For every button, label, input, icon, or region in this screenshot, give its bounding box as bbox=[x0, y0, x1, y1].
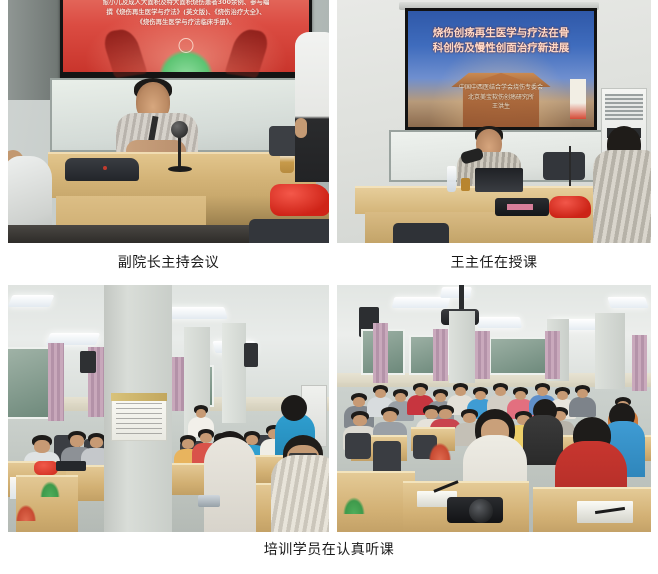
audience-person bbox=[413, 383, 428, 399]
curtain bbox=[48, 343, 64, 421]
slide-emblem-icon bbox=[159, 50, 213, 72]
slide-2-title-line-1: 烧伤创疡再生医学与疗法在骨 bbox=[414, 26, 588, 41]
pillar bbox=[449, 311, 475, 383]
audience-person bbox=[555, 387, 570, 403]
audience-person bbox=[373, 385, 388, 401]
laptop bbox=[56, 461, 86, 471]
red-bag bbox=[549, 196, 591, 218]
photo-director-wang-lecturing[interactable]: 烧伤创疡再生医学与疗法在骨 科创伤及慢性创面治疗新进展 中国中西医结合学会烧伤专… bbox=[337, 0, 651, 243]
chair-back bbox=[345, 433, 371, 459]
pillar bbox=[222, 323, 246, 423]
tea-cup bbox=[280, 155, 294, 173]
wall-poster bbox=[570, 79, 586, 119]
curtain bbox=[433, 329, 448, 381]
slide-torch-right-icon bbox=[224, 28, 271, 78]
audience-person bbox=[351, 411, 369, 430]
window bbox=[489, 337, 551, 375]
mobile-phone bbox=[198, 495, 220, 507]
slide-2-subtitle-line-3: 王洪生 bbox=[414, 102, 588, 112]
audience-person bbox=[473, 387, 488, 403]
photo-trainees-classroom-left[interactable] bbox=[8, 285, 329, 532]
projection-screen-frame: 烧伤创疡再生医学与疗法在骨 科创伤及慢性创面治疗新进展 中国中西医结合学会烧伤专… bbox=[405, 8, 597, 130]
curtain bbox=[475, 331, 490, 379]
photo-1-scene: 愈小儿及成人大面积及特大面积烧伤患者300余例、参与编 撰《烧伤再生医学与疗法》… bbox=[8, 0, 329, 243]
laptop-bag bbox=[65, 158, 139, 181]
audience-person bbox=[68, 431, 86, 451]
audience-person bbox=[351, 393, 367, 410]
curtain bbox=[632, 335, 647, 391]
pillar bbox=[595, 313, 625, 389]
air-conditioner-vent bbox=[605, 94, 643, 120]
red-bag bbox=[270, 184, 329, 216]
notice-board-lines bbox=[116, 398, 162, 436]
foreground-person-body bbox=[271, 455, 329, 532]
photo-4-scene bbox=[337, 285, 651, 532]
caption-photo-2: 王主任在授课 bbox=[337, 254, 651, 272]
audience-person bbox=[493, 383, 508, 399]
desk-logo-icon bbox=[40, 481, 60, 497]
audience-person-head bbox=[281, 395, 307, 421]
audience-person bbox=[453, 383, 468, 399]
red-bag bbox=[34, 461, 58, 475]
microphone-head bbox=[171, 121, 188, 138]
curtain bbox=[545, 331, 560, 379]
camera-lens-icon bbox=[469, 499, 493, 523]
photo-2-scene: 烧伤创疡再生医学与疗法在骨 科创伤及慢性创面治疗新进展 中国中西医结合学会烧伤专… bbox=[337, 0, 651, 243]
audience-person bbox=[393, 389, 408, 405]
chair-foreground bbox=[393, 223, 449, 243]
audience-person bbox=[32, 435, 52, 457]
audience-person bbox=[433, 389, 448, 405]
equipment-tray-label bbox=[507, 204, 533, 210]
projector-mount-rod bbox=[459, 285, 464, 311]
slide-1-text: 愈小儿及成人大面积及特大面积烧伤患者300余例、参与编 撰《烧伤再生医学与疗法》… bbox=[71, 0, 301, 27]
ceiling-lamp bbox=[476, 317, 522, 328]
photo-trainees-classroom-right[interactable] bbox=[337, 285, 651, 532]
photo-vice-dean-hosting-meeting[interactable]: 愈小儿及成人大面积及特大面积烧伤患者300余例、参与编 撰《烧伤再生医学与疗法》… bbox=[8, 0, 329, 243]
slide-2-subtitle: 中国中西医结合学会烧伤专委会 北京美宝软伤创疡研究所 王洪生 bbox=[414, 83, 588, 112]
curtain bbox=[373, 323, 388, 383]
attendee-right-hand bbox=[295, 118, 307, 138]
wall-speaker bbox=[244, 343, 258, 367]
desk-logo-icon bbox=[16, 505, 36, 521]
photo-3-scene bbox=[8, 285, 329, 532]
foreground-person-body bbox=[204, 437, 256, 532]
caption-bottom-row: 培训学员在认真听课 bbox=[0, 541, 658, 559]
slide-emblem-ring-icon bbox=[179, 38, 194, 53]
audience-person bbox=[575, 385, 590, 401]
audience-person bbox=[194, 405, 208, 421]
desk-logo-icon bbox=[343, 497, 365, 514]
projection-screen-frame: 愈小儿及成人大面积及特大面积烧伤患者300余例、参与编 撰《烧伤再生医学与疗法》… bbox=[60, 0, 312, 78]
slide-torch-left-icon bbox=[100, 28, 147, 78]
ceiling-lamp bbox=[440, 287, 472, 298]
slide-1-line-1: 愈小儿及成人大面积及特大面积烧伤患者300余例、参与编 bbox=[71, 0, 301, 7]
audience-person bbox=[535, 383, 550, 399]
projected-slide-red: 愈小儿及成人大面积及特大面积烧伤患者300余例、参与编 撰《烧伤再生医学与疗法》… bbox=[63, 0, 309, 72]
caption-photo-1: 副院长主持会议 bbox=[8, 254, 329, 272]
photo-gallery-page: 愈小儿及成人大面积及特大面积烧伤患者300余例、参与编 撰《烧伤再生医学与疗法》… bbox=[0, 0, 658, 574]
desk-logo-icon bbox=[429, 443, 451, 460]
tea-cup bbox=[461, 178, 470, 191]
slide-2-title: 烧伤创疡再生医学与疗法在骨 科创伤及慢性创面治疗新进展 bbox=[414, 26, 588, 56]
slide-2-title-line-2: 科创伤及慢性创面治疗新进展 bbox=[414, 41, 588, 56]
water-bottle bbox=[447, 166, 456, 192]
slide-1-line-3: 《烧伤再生医学与疗法临床手册》。 bbox=[71, 17, 301, 27]
attendee-right-body bbox=[295, 32, 329, 182]
slide-1-line-2: 撰《烧伤再生医学与疗法》(英文版)、《烧伤治疗大全》、 bbox=[71, 7, 301, 17]
laptop bbox=[475, 168, 523, 192]
ceiling-lamp bbox=[8, 295, 54, 307]
attendee-body bbox=[593, 150, 651, 243]
window bbox=[8, 347, 50, 419]
wall-speaker bbox=[80, 351, 96, 373]
audience-person bbox=[88, 433, 105, 452]
notice-board-header bbox=[111, 393, 167, 401]
slide-2-subtitle-line-2: 北京美宝软伤创疡研究所 bbox=[414, 93, 588, 103]
chair-back-behind bbox=[543, 152, 585, 180]
chair-back bbox=[373, 441, 401, 475]
microphone-base bbox=[168, 166, 192, 172]
ceiling-lamp bbox=[392, 297, 451, 308]
laptop-bag-logo bbox=[103, 166, 107, 170]
audience-person bbox=[381, 407, 399, 426]
audience-person bbox=[513, 387, 528, 403]
slide-2-subtitle-line-1: 中国中西医结合学会烧伤专委会 bbox=[414, 83, 588, 93]
chair-foreground bbox=[249, 219, 329, 243]
audience-person bbox=[437, 405, 454, 423]
ceiling-lamp bbox=[607, 297, 649, 308]
projected-slide-blue: 烧伤创疡再生医学与疗法在骨 科创伤及慢性创面治疗新进展 中国中西医结合学会烧伤专… bbox=[408, 11, 594, 127]
